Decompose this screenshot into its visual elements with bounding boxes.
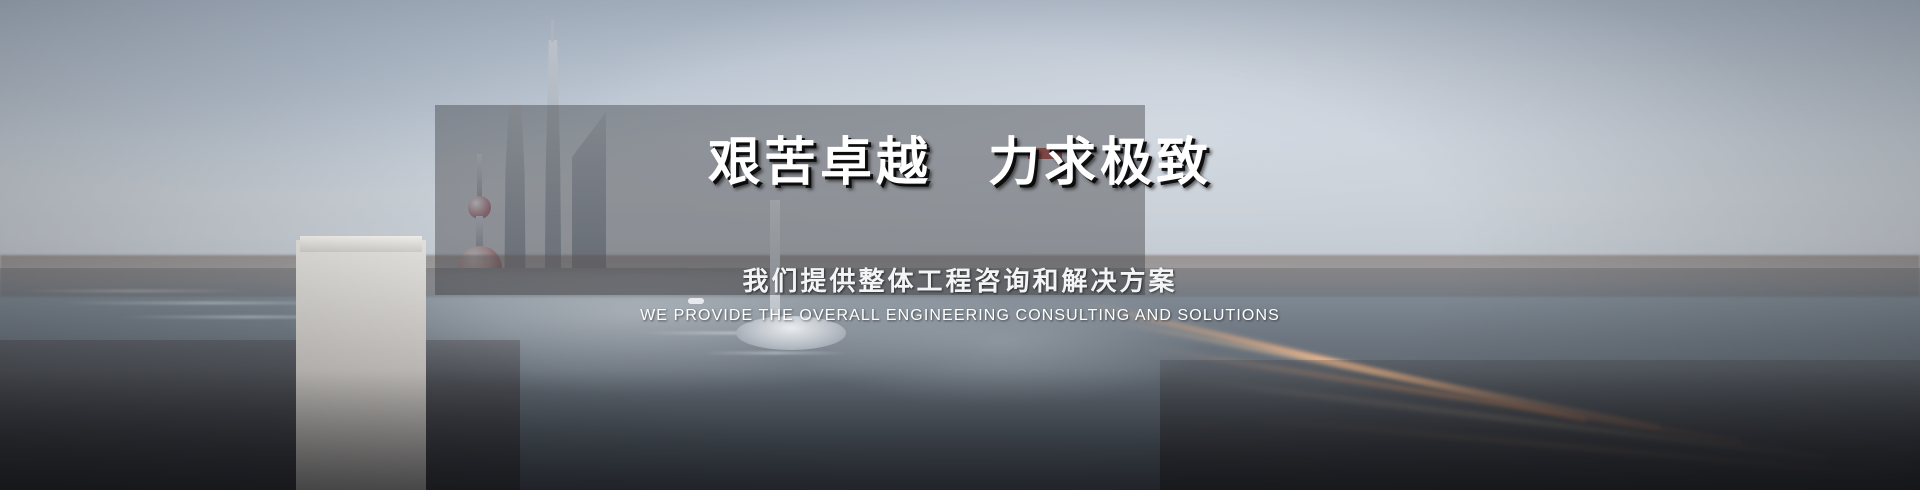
- banner-subtitle-chinese: 我们提供整体工程咨询和解决方案: [0, 261, 1920, 298]
- banner-headline: 艰苦卓越 力求极致: [0, 134, 1920, 192]
- banner-text-group: 艰苦卓越 力求极致 我们提供整体工程咨询和解决方案 WE PROVIDE THE…: [0, 0, 1920, 490]
- hero-banner: 艰苦卓越 力求极致 我们提供整体工程咨询和解决方案 WE PROVIDE THE…: [0, 0, 1920, 490]
- banner-subtitle-english: WE PROVIDE THE OVERALL ENGINEERING CONSU…: [0, 307, 1920, 325]
